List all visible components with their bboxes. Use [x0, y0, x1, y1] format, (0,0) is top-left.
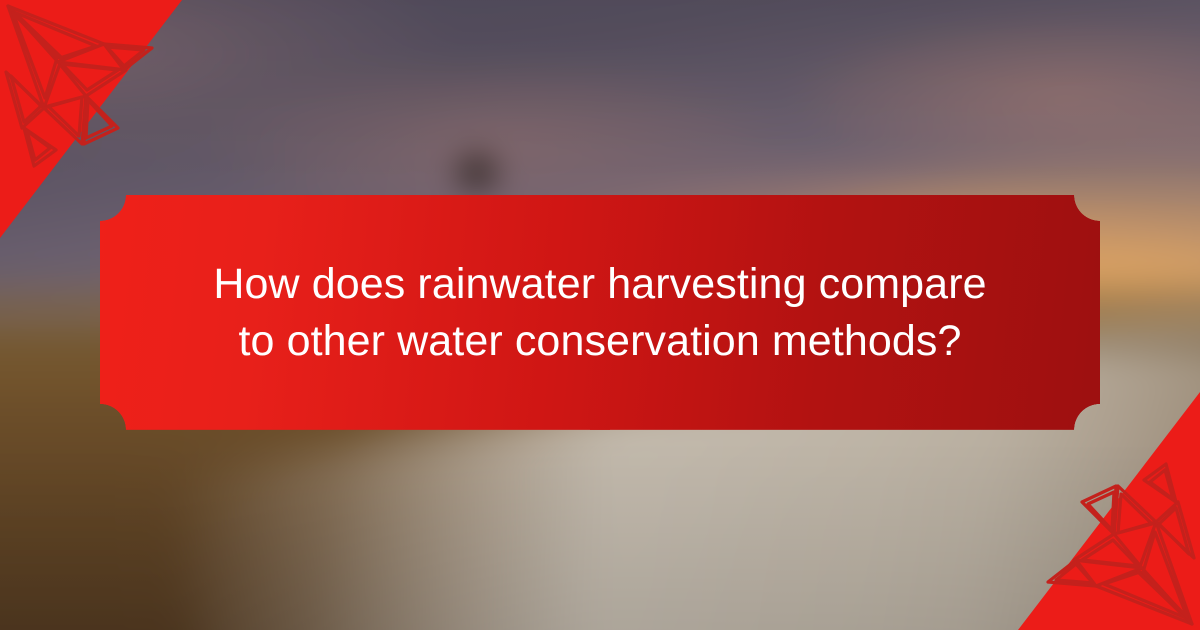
- share-card-canvas: How does rainwater harvesting compare to…: [0, 0, 1200, 630]
- question-title: How does rainwater harvesting compare to…: [154, 256, 1046, 370]
- question-card: How does rainwater harvesting compare to…: [100, 195, 1100, 430]
